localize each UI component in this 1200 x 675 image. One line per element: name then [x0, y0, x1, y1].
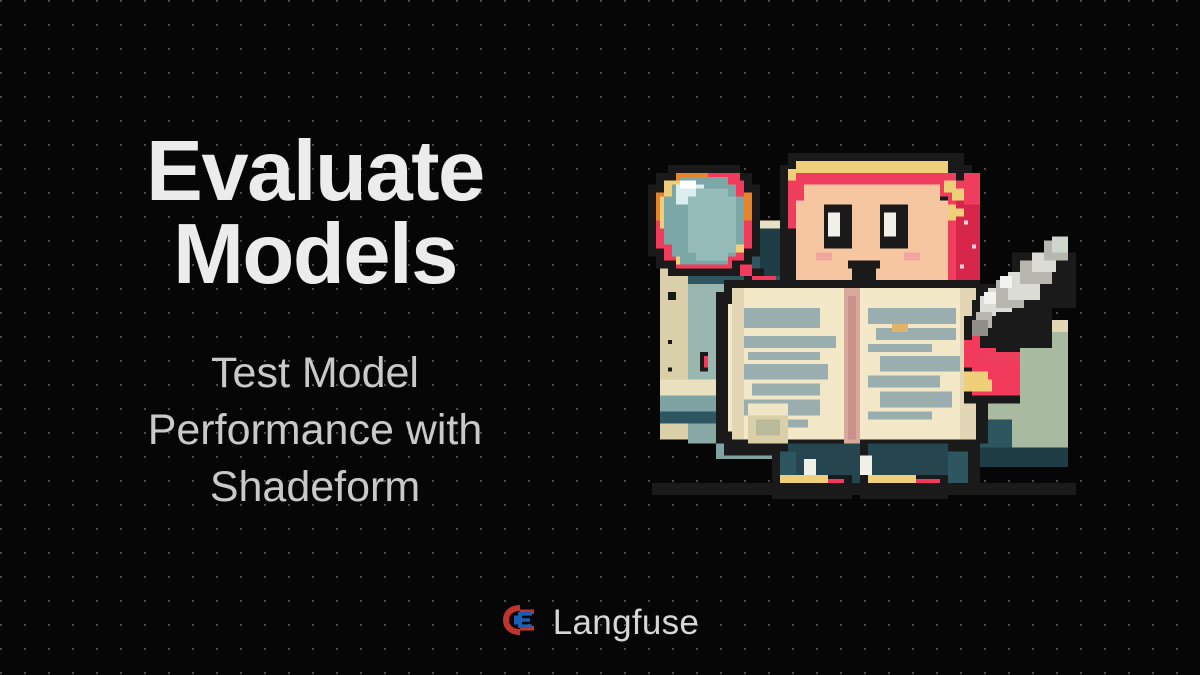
hero-banner: Evaluate Models Test Model Performance w…: [0, 0, 1200, 675]
page-title: Evaluate Models: [30, 130, 600, 297]
langfuse-logo-icon: [501, 603, 539, 642]
page-subtitle: Test Model Performance with Shadeform: [30, 345, 600, 517]
pixel-art-character-reading-book-icon: [628, 133, 1108, 503]
brand-lockup: Langfuse: [0, 603, 1200, 642]
hero-text-column: Evaluate Models Test Model Performance w…: [0, 130, 600, 516]
brand-name: Langfuse: [553, 605, 699, 640]
